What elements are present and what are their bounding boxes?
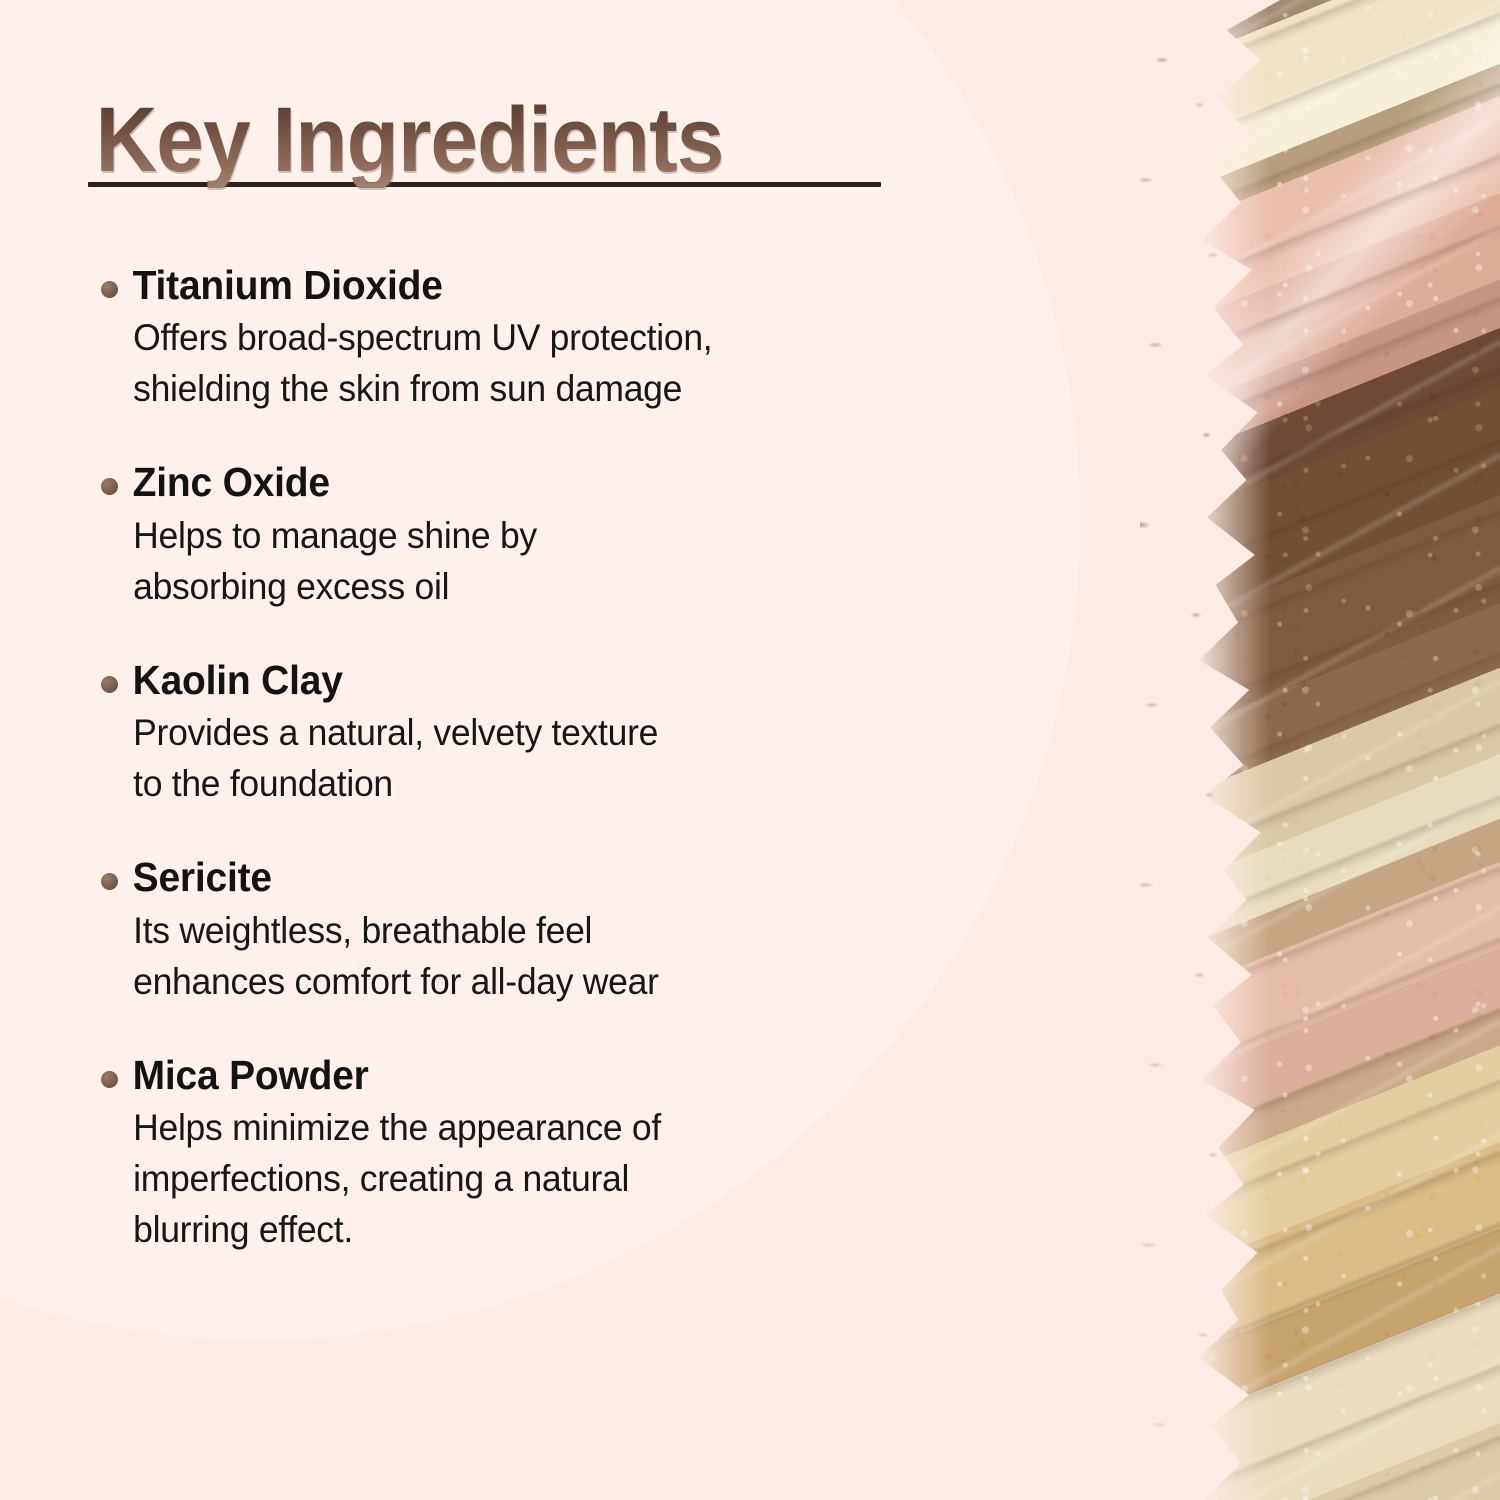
ingredient-description: Helps to manage shine by absorbing exces… xyxy=(88,510,952,612)
ingredient-description: Helps minimize the appearance of imperfe… xyxy=(88,1102,952,1255)
ingredient-name: Mica Powder xyxy=(88,1051,943,1099)
content-column: Key Ingredients Titanium Dioxide Offers … xyxy=(88,88,988,1255)
list-item: Kaolin Clay Provides a natural, velvety … xyxy=(88,656,988,809)
ingredient-description: Provides a natural, velvety texture to t… xyxy=(88,707,952,809)
key-ingredients-poster: Key Ingredients Titanium Dioxide Offers … xyxy=(0,0,1500,1500)
list-item: Mica Powder Helps minimize the appearanc… xyxy=(88,1051,988,1256)
ingredient-name: Zinc Oxide xyxy=(88,458,943,506)
ingredient-name: Titanium Dioxide xyxy=(88,261,943,309)
list-item: Sericite Its weightless, breathable feel… xyxy=(88,853,988,1006)
title-block: Key Ingredients xyxy=(88,88,988,187)
powder-edge-fade xyxy=(1140,0,1270,1500)
ingredients-list: Titanium Dioxide Offers broad-spectrum U… xyxy=(88,261,988,1255)
list-item: Zinc Oxide Helps to manage shine by abso… xyxy=(88,458,988,611)
powder-swatch-photo xyxy=(1140,0,1500,1500)
ingredient-name: Sericite xyxy=(88,853,943,901)
list-item: Titanium Dioxide Offers broad-spectrum U… xyxy=(88,261,988,414)
ingredient-description: Offers broad-spectrum UV protection, shi… xyxy=(88,312,952,414)
ingredient-name: Kaolin Clay xyxy=(88,656,943,704)
ingredient-description: Its weightless, breathable feel enhances… xyxy=(88,905,952,1007)
page-title: Key Ingredients xyxy=(88,88,733,188)
